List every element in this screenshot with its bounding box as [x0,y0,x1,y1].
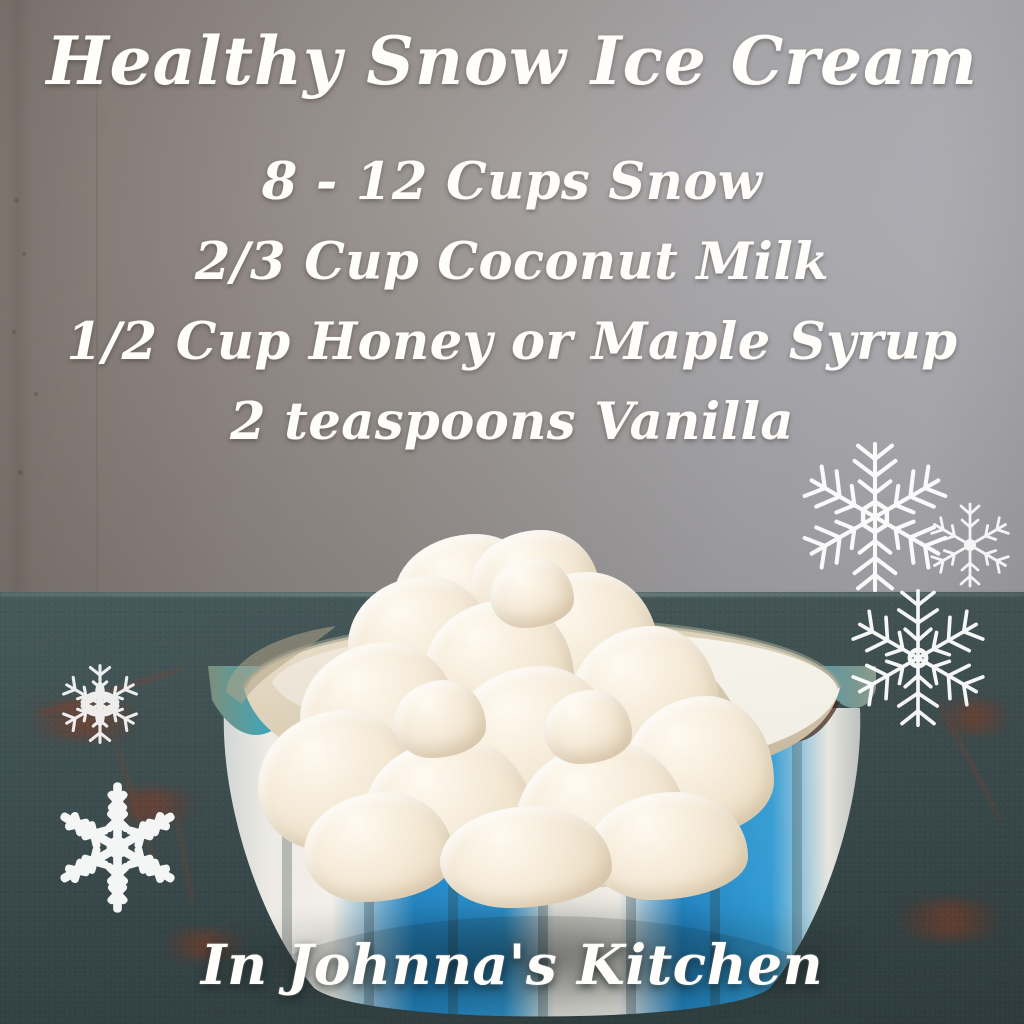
ingredient-line: 2 teaspoons Vanilla [0,392,1024,452]
snowflake-arms [62,666,138,743]
brand-footer: In Johnna's Kitchen [0,932,1024,997]
snowflake-core [964,539,976,551]
ingredient-line: 1/2 Cup Honey or Maple Syrup [0,312,1024,372]
snow-lump [544,690,632,764]
snowflake-arms [54,782,180,912]
snow-lump [490,558,574,628]
recipe-card: Healthy Snow Ice Cream 8 - 12 Cups Snow … [0,0,1024,1024]
ingredient-line: 2/3 Cup Coconut Milk [0,232,1024,292]
page-title: Healthy Snow Ice Cream [0,22,1024,100]
snowflake-left-large [40,770,195,925]
ingredient-line: 8 - 12 Cups Snow [0,152,1024,212]
snowflake-arms [850,591,986,725]
snowflake-left-small [52,656,148,752]
snow-ice-cream [244,530,784,890]
snow-lump [394,680,486,758]
snowflake-core [107,837,129,859]
snowflake-right-lower [838,578,998,738]
